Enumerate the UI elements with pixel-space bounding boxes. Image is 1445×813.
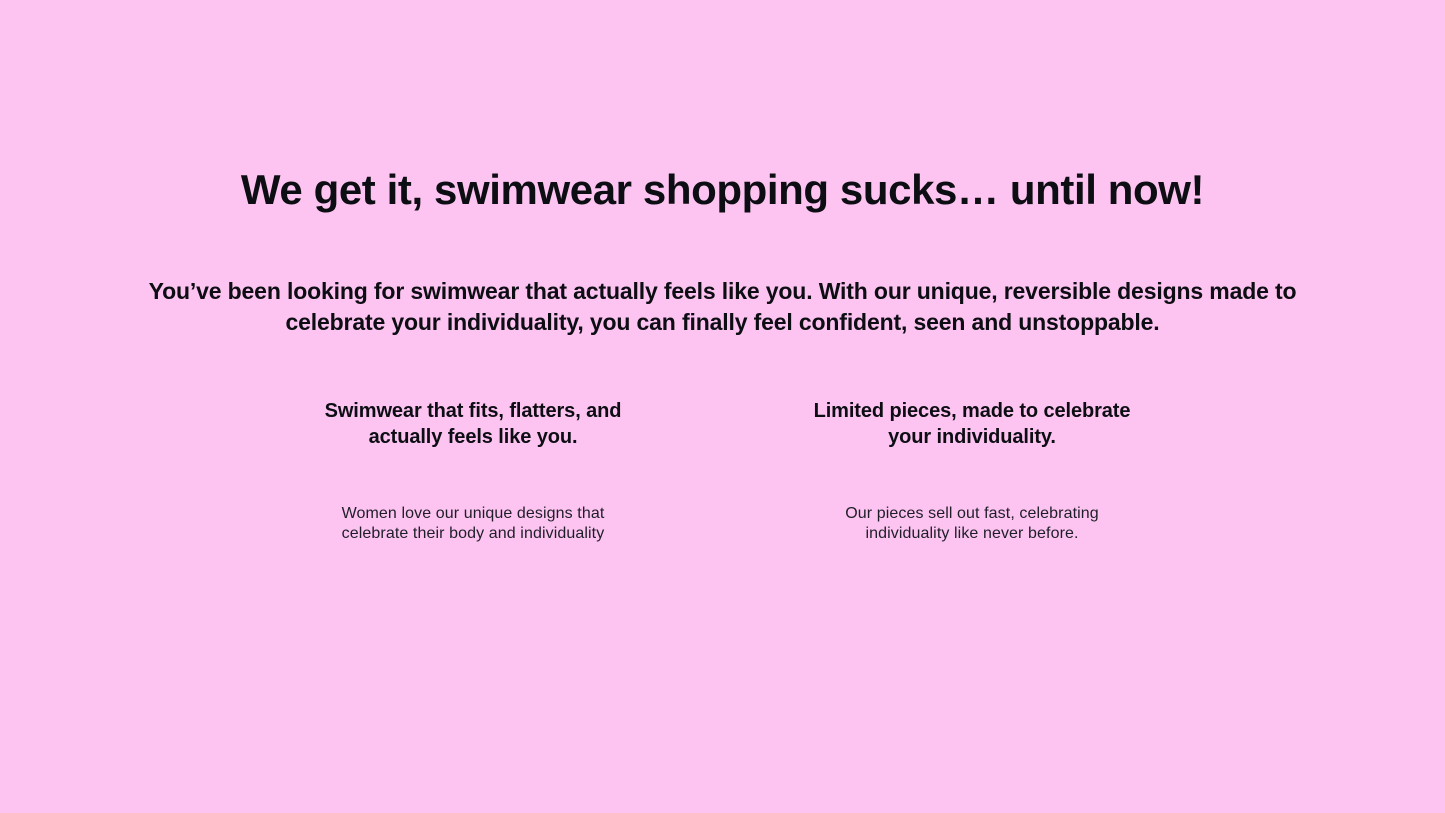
landing-page-section: We get it, swimwear shopping sucks… unti… [0,0,1445,813]
page-title: We get it, swimwear shopping sucks… unti… [0,161,1445,219]
feature-column-fit: Swimwear that fits, flatters, and actual… [224,398,723,544]
feature-body-fit: Women love our unique designs that celeb… [323,450,623,544]
hero-subheading: You’ve been looking for swimwear that ac… [123,276,1323,338]
feature-title-fit: Swimwear that fits, flatters, and actual… [293,398,653,450]
feature-body-limited: Our pieces sell out fast, celebrating in… [822,450,1122,544]
feature-columns: Swimwear that fits, flatters, and actual… [0,398,1445,544]
feature-column-limited: Limited pieces, made to celebrate your i… [723,398,1222,544]
feature-title-limited: Limited pieces, made to celebrate your i… [792,398,1152,450]
